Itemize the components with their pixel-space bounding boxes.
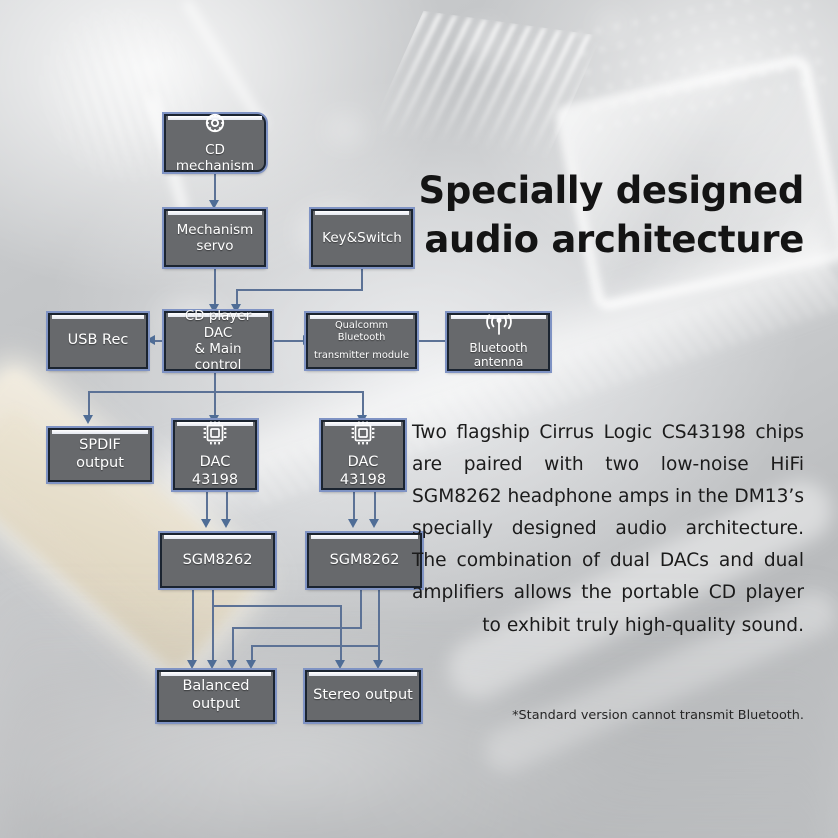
node-label-line1: CD player DAC <box>166 308 270 341</box>
edge-ampleft-stereo-h <box>212 605 341 607</box>
node-label: USB Rec <box>65 332 132 350</box>
edge-ampleft-balanced-2 <box>212 588 214 663</box>
arrowhead-servo <box>209 200 219 209</box>
headline-line-2: audio architecture <box>374 215 804 264</box>
arrowhead-balanced-1 <box>187 660 197 669</box>
node-label: Bluetooth antenna <box>449 341 548 370</box>
headline-line-1: Specially designed <box>419 169 804 212</box>
edge-ampright-balanced-h2 <box>251 645 380 647</box>
node-label: SGM8262 <box>327 552 403 570</box>
node-amp-right[interactable]: SGM8262 <box>307 533 422 588</box>
edge-keyswitch-down <box>361 267 363 290</box>
arrowhead-balanced-2 <box>207 660 217 669</box>
edge-cdmech-servo <box>214 171 216 202</box>
node-label: Key&Switch <box>319 230 405 246</box>
edge-ampright-balanced-h1 <box>232 627 362 629</box>
node-label-line2: & Main control <box>166 341 270 374</box>
edge-ampleft-balanced-1 <box>192 588 194 663</box>
edge-dacleft-ampleft-b <box>226 490 228 521</box>
node-bt-antenna[interactable]: Bluetooth antenna <box>447 313 550 371</box>
slide-canvas: CD mechanism Mechanism servo Key&Switch … <box>0 0 838 838</box>
node-label: DAC 43198 <box>175 454 255 489</box>
node-label: Stereo output <box>310 687 416 705</box>
node-label-line2: transmitter module <box>311 350 412 362</box>
node-mechanism-servo[interactable]: Mechanism servo <box>164 209 266 267</box>
arrowhead-ampleft-a <box>201 519 211 528</box>
node-cd-mechanism[interactable]: CD mechanism <box>164 114 266 172</box>
edge-maincontrol-bus-across <box>88 391 363 393</box>
node-bt-transmitter[interactable]: Qualcomm Bluetooth transmitter module <box>306 313 417 369</box>
edge-servo-maincontrol <box>214 267 216 307</box>
edge-dacleft-ampleft-a <box>206 490 208 521</box>
arrowhead-balanced-3 <box>227 660 237 669</box>
node-label: CD mechanism <box>166 142 264 175</box>
node-label-line1: Mechanism <box>174 222 257 238</box>
node-stereo-output[interactable]: Stereo output <box>305 670 421 722</box>
antenna-icon <box>482 314 516 339</box>
node-label: SPDIF output <box>50 437 150 472</box>
node-dac-left[interactable]: DAC 43198 <box>173 420 257 490</box>
edge-maincontrol-bt <box>272 340 305 342</box>
node-label-line1: Qualcomm Bluetooth <box>308 320 415 344</box>
edge-ampright-balanced-v1 <box>360 588 362 629</box>
edge-bus-spdif <box>88 391 90 418</box>
arrowhead-balanced-4 <box>246 660 256 669</box>
edge-bus-dacright <box>362 391 364 418</box>
edge-bus-dacleft <box>214 391 216 418</box>
node-balanced-output[interactable]: Balanced output <box>157 670 275 722</box>
edge-ampright-stereo <box>378 588 380 663</box>
arrowhead-ampright-b <box>369 519 379 528</box>
node-dac-right[interactable]: DAC 43198 <box>321 420 405 490</box>
edge-bt-antenna <box>416 340 449 342</box>
node-cd-player-dac[interactable]: CD player DAC & Main control <box>164 311 272 371</box>
node-amp-left[interactable]: SGM8262 <box>160 533 275 588</box>
edge-dacright-ampright-a <box>353 490 355 521</box>
node-usb-rec[interactable]: USB Rec <box>48 313 148 369</box>
node-label: SGM8262 <box>180 552 256 570</box>
edge-ampright-balanced-v2 <box>232 627 234 663</box>
edge-dacright-ampright-b <box>374 490 376 521</box>
arrowhead-spdif <box>83 415 93 424</box>
footnote-disclaimer: *Standard version cannot transmit Blueto… <box>412 708 804 723</box>
body-paragraph: Two flagship Cirrus Logic CS43198 chips … <box>412 417 804 642</box>
arrowhead-ampleft-b <box>221 519 231 528</box>
chip-icon <box>350 420 376 452</box>
chip-icon <box>202 420 228 452</box>
arrowhead-stereo-1 <box>335 660 345 669</box>
arrowhead-ampright-a <box>348 519 358 528</box>
node-spdif-output[interactable]: SPDIF output <box>48 428 152 482</box>
edge-ampleft-stereo-v2 <box>340 605 342 663</box>
node-label: DAC 43198 <box>323 454 403 489</box>
node-label-line2: servo <box>193 238 236 254</box>
arrowhead-stereo-2 <box>373 660 383 669</box>
edge-keyswitch-across <box>236 289 363 291</box>
page-title: Specially designed audio architecture <box>374 166 804 264</box>
gear-icon <box>203 111 227 139</box>
node-label: Balanced output <box>159 678 273 713</box>
